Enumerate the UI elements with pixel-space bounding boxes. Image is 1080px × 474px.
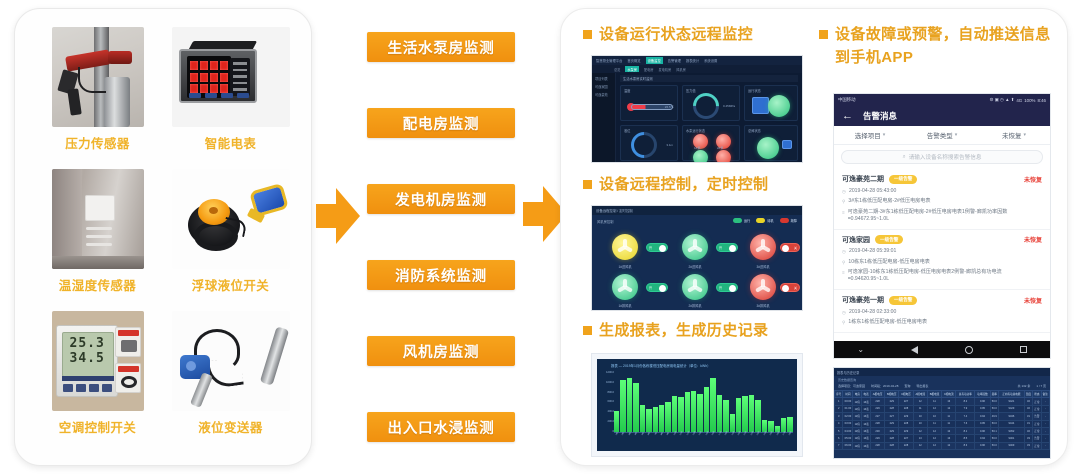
sub-tab-4[interactable]: 风机房 <box>676 67 686 72</box>
y-tick-label: 1200.0 <box>599 371 614 374</box>
chart-bar <box>697 394 702 433</box>
pump-label-2: 2#泵 <box>717 146 723 150</box>
smart-power-meter-photo <box>172 27 290 127</box>
table-row[interactable]: 100:001#房1#表2282292271211138.20.9650.094… <box>835 398 1050 405</box>
alarm-device: 3#东1栋低压配电房-2#低压电房电表 <box>848 198 930 205</box>
table-cell: 33 <box>1024 435 1032 442</box>
pressure-sensor-photo <box>52 27 144 127</box>
bullet-icon <box>583 326 592 335</box>
table-column-header: 功率因数 <box>975 391 990 398</box>
table-cell: 2 <box>835 405 843 412</box>
alarm-detail: 可逸豪苑二期-3#东1栋低压配电房-2#低压电房电表1例警-廊凯功率因数=0.9… <box>848 209 1042 223</box>
phone-status-bar: 中国移动 ⚙ ▣ ◷ ▲ ⬆ 4G 100% 8:46 <box>834 94 1050 106</box>
dashboard-subbar: 总览 水泵房 配电房 发电机房 风机房 <box>592 65 802 73</box>
toggle-label: 开 <box>719 246 722 250</box>
device-icon: ⚲ <box>842 259 845 266</box>
table-cell: - <box>1041 413 1049 420</box>
sub-tab-3[interactable]: 发电机房 <box>659 67 672 72</box>
table-cell: 228 <box>899 420 913 427</box>
top-tab-1[interactable]: 设备监控 <box>646 57 663 64</box>
legend-item-run: 运行 <box>733 218 750 223</box>
bullet-icon <box>583 180 592 189</box>
chart-y-axis: 1200.01000.0800.0600.0400.0200.00 <box>599 371 614 433</box>
table-cell: 0.96 <box>975 442 990 449</box>
chart-bar <box>620 380 625 433</box>
recents-square-icon[interactable] <box>1020 346 1027 353</box>
fan-label-6: 3#排风机 <box>746 303 780 308</box>
table-cell: 12 <box>927 435 941 442</box>
table-cell: 9436 <box>998 413 1024 420</box>
alarm-state: 未恢复 <box>1024 175 1042 184</box>
fan-toggle-3[interactable]: 关 <box>780 243 800 252</box>
table-cell: 32 <box>1024 398 1032 405</box>
history-report-table[interactable]: 报表与历史记录 历史数据查询 选择项目：可逸家园 时间段：2019-04-28 … <box>833 367 1051 459</box>
table-cell: 228 <box>870 420 884 427</box>
table-cell: 9469 <box>998 442 1024 449</box>
table-cell: 0.94 <box>975 435 990 442</box>
bullet-icon <box>819 30 828 39</box>
table-cell: 1#房 <box>853 398 862 405</box>
table-cell: 229 <box>885 398 899 405</box>
table-row[interactable]: 201:001#房1#表2292282281112127.90.9550.094… <box>835 405 1050 412</box>
tool-project-filter[interactable]: 选择项目：可逸家园 <box>838 384 865 388</box>
scenario-pill-fan-room[interactable]: 风机房监测 <box>367 336 515 366</box>
table-cell: 12 <box>913 398 927 405</box>
table-cell: 5 <box>835 427 843 434</box>
fan-toggle-2[interactable]: 开 <box>716 243 738 252</box>
chevron-down-icon: ▾ <box>955 132 958 138</box>
chevron-down-icon: ▾ <box>883 132 886 138</box>
table-cell: 7.4 <box>956 413 975 420</box>
table-cell: 9444 <box>998 420 1024 427</box>
dashboard-project-tree[interactable]: 项目列表 可逸家园 可逸豪苑 <box>592 73 616 162</box>
status-time: 8:46 <box>1037 98 1046 103</box>
toggle-label: 开 <box>649 246 652 250</box>
metric-card-main-valve: 总阀状态 <box>744 125 798 161</box>
list-item[interactable]: 可逸豪苑二期 一级告警 未恢复 ◷ 2019-04-28 05:43:00 ⚲ … <box>834 169 1050 230</box>
table-cell: 11 <box>942 420 956 427</box>
table-title-bar: 报表与历史记录 <box>834 368 1050 376</box>
sub-tab-0[interactable]: 总览 <box>614 67 620 72</box>
remote-control-dashboard[interactable]: 设备远程控制 / 定时控制 风机房控制 运行 待机 故障 <box>591 205 803 311</box>
table-header-row: 序号时间电房电表A相电压B相电压C相电压A相电流B相电流C相电流总有功功率功率因… <box>835 391 1050 398</box>
y-tick-label: 200.0 <box>599 420 614 423</box>
table-cell: 02:00 <box>843 413 853 420</box>
dashboard-section-title: 生活水泵房实时监测 <box>620 75 798 82</box>
device-icon: ⚲ <box>842 198 845 205</box>
device-cell-pressure-sensor: 压力传感器 <box>31 27 164 167</box>
float-level-switch-photo <box>172 169 290 269</box>
table-cell: 1#表 <box>862 420 871 427</box>
table-cell: 1#表 <box>862 442 871 449</box>
table-cell: 7.9 <box>956 405 975 412</box>
fan-label-2: 2#送风机 <box>678 264 712 269</box>
fan-toggle-4[interactable]: 开 <box>646 283 668 292</box>
legend-label: 待机 <box>767 218 773 223</box>
fan-toggle-1[interactable]: 开 <box>646 243 668 252</box>
table-cell: 4 <box>835 420 843 427</box>
note-icon: ≡ <box>842 209 845 216</box>
device-label: 压力传感器 <box>65 133 130 152</box>
filter-label: 选择项目 <box>855 130 881 140</box>
filter-select-alarm-type[interactable]: 告警类型 ▾ <box>906 130 978 140</box>
table-cell: - <box>1041 427 1049 434</box>
chart-bar <box>691 391 696 433</box>
table-column-header: 备注 <box>1041 391 1049 398</box>
chart-bar <box>736 398 741 433</box>
table-cell: 229 <box>885 427 899 434</box>
filter-select-project[interactable]: 选择项目 ▾ <box>834 130 906 140</box>
table-cell: 00:00 <box>843 398 853 405</box>
home-circle-icon[interactable] <box>965 346 973 354</box>
table-cell: 01:00 <box>843 405 853 412</box>
y-tick-label: 400.0 <box>599 410 614 413</box>
equipment-status-dashboard[interactable]: 智慧物业管理平台 首页概览 设备监控 告警管理 报表统计 系统设置 总览 水泵房… <box>591 55 803 163</box>
table-cell: 12 <box>942 427 956 434</box>
chart-bars <box>614 372 793 433</box>
alarm-detail: 可逸家园-10栋东1栋低压配电房-低压电房电表2例警-廊凯总有功电流=0.946… <box>848 269 1042 283</box>
table-cell: 0.95 <box>975 420 990 427</box>
metric-value: 3.1m <box>666 143 673 147</box>
y-tick-label: 1000.0 <box>599 381 614 384</box>
legend-label: 运行 <box>744 218 750 223</box>
table-cell: 50.0 <box>990 405 998 412</box>
table-cell: - <box>1041 420 1049 427</box>
status-icons: ⚙ ▣ ◷ ▲ ⬆ 4G 100% 8:46 <box>990 97 1046 103</box>
alarm-time: 2019-04-28 05:43:00 <box>849 188 896 195</box>
scenario-pill-water-pump-room[interactable]: 生活水泵房监测 <box>367 32 515 62</box>
level-transmitter-photo <box>172 311 290 411</box>
table-cell: 12 <box>913 442 927 449</box>
y-tick-label: 600.0 <box>599 400 614 403</box>
y-tick-label: 0 <box>599 430 614 433</box>
control-legend: 运行 待机 故障 <box>733 218 797 223</box>
table-cell: 229 <box>899 413 913 420</box>
table-cell: 229 <box>885 420 899 427</box>
scenario-pill-fire-system[interactable]: 消防系统监测 <box>367 260 515 290</box>
table-column-header: 序号 <box>835 391 843 398</box>
table-cell: 1#房 <box>853 405 862 412</box>
table-cell: 33 <box>1024 442 1032 449</box>
table-cell: - <box>1041 398 1049 405</box>
table-cell: 1#表 <box>862 413 871 420</box>
top-tab-3[interactable]: 报表统计 <box>686 58 699 63</box>
table-cell: 32 <box>1024 405 1032 412</box>
table-cell: 1#房 <box>853 442 862 449</box>
alarm-device: 10栋东1栋低压配电房-低压电房电表 <box>848 259 930 266</box>
chart-canvas: 报表 — 2019年1月份各栋楼低压配电房用电量统计（单位：kWh） 1200.… <box>597 359 797 451</box>
table-cell: 正常 <box>1033 398 1041 405</box>
back-triangle-icon[interactable] <box>911 346 918 354</box>
top-tab-2[interactable]: 告警管理 <box>668 58 681 63</box>
chart-plot-area <box>614 372 793 433</box>
alarm-project: 可逸豪苑一期 <box>842 295 884 305</box>
table-cell: 12 <box>927 442 941 449</box>
top-tab-4[interactable]: 系统设置 <box>704 58 717 63</box>
fan-label-3: 3#送风机 <box>746 264 780 269</box>
fan-icon-3[interactable] <box>750 234 776 260</box>
chart-bar <box>633 383 638 433</box>
table-row[interactable]: 302:001#房1#表2272272291010117.40.9449.994… <box>835 413 1050 420</box>
control-title-bar: 设备远程控制 / 定时控制 <box>592 206 802 215</box>
table-cell: 1#表 <box>862 405 871 412</box>
table-cell: 228 <box>885 435 899 442</box>
legend-item-fault: 故障 <box>780 218 797 223</box>
table-cell: 10 <box>913 420 927 427</box>
chart-bar <box>717 395 722 433</box>
table-cell: 12 <box>942 405 956 412</box>
arrow-right-icon <box>316 188 360 244</box>
table-column-header: B相电流 <box>927 391 941 398</box>
filter-select-state[interactable]: 未恢复 ▾ <box>978 130 1050 140</box>
table-cell: 7.6 <box>956 420 975 427</box>
table-cell: 228 <box>885 442 899 449</box>
table-cell: 04:00 <box>843 427 853 434</box>
table-cell: - <box>1041 405 1049 412</box>
device-cell-ac-control-switch: 25.3 34.5 空调控制开关 <box>31 311 164 451</box>
table-cell: 10 <box>913 413 927 420</box>
status-badge: 一级告警 <box>875 235 903 244</box>
phone-nav-title: 告警消息 <box>863 110 897 122</box>
scenario-pill-distribution-room[interactable]: 配电房监测 <box>367 108 515 138</box>
status-badge: 一级告警 <box>889 175 917 184</box>
table-column-header: 频率 <box>990 391 998 398</box>
clock-icon: ◷ <box>842 309 846 316</box>
mobile-alarm-app[interactable]: 中国移动 ⚙ ▣ ◷ ▲ ⬆ 4G 100% 8:46 ← 告警消息 选择项目 … <box>833 93 1051 359</box>
table-column-header: B相电压 <box>885 391 899 398</box>
table-cell: 8.2 <box>956 398 975 405</box>
y-tick-label: 800.0 <box>599 391 614 394</box>
metric-caption: 总阀状态 <box>748 128 761 133</box>
table-cell: 31 <box>1024 420 1032 427</box>
chart-bar <box>749 395 754 433</box>
metric-caption: 压力值 <box>686 88 696 93</box>
legend-item-standby: 待机 <box>756 218 773 223</box>
table-row[interactable]: 605:001#房1#表2292282271312138.50.9450.094… <box>835 435 1050 442</box>
scenario-pill-generator-room[interactable]: 发电机房监测 <box>367 184 515 214</box>
table-cell: 11 <box>942 413 956 420</box>
table-cell: 227 <box>885 413 899 420</box>
fan-icon-5[interactable] <box>682 274 708 300</box>
fan-toggle-5[interactable]: 开 <box>716 283 738 292</box>
toggle-label: 关 <box>794 246 797 250</box>
search-icon: ⌕ <box>903 154 906 161</box>
control-subtitle: 风机房控制 <box>597 219 613 224</box>
temperature-humidity-sensor-photo <box>52 169 144 269</box>
table-cell: 9421 <box>998 398 1024 405</box>
table-cell: 8.5 <box>956 435 975 442</box>
table-column-header: 温度 <box>1024 391 1032 398</box>
status-lamp-green <box>768 95 790 117</box>
feature-header-text: 生成报表，生成历史记录 <box>599 319 768 342</box>
lcd-line-2: 34.5 <box>70 351 113 366</box>
report-table: 序号时间电房电表A相电压B相电压C相电压A相电流B相电流C相电流总有功功率功率因… <box>834 390 1050 450</box>
table-cell: 6 <box>835 435 843 442</box>
dashboard-brand: 智慧物业管理平台 <box>596 58 622 63</box>
table-cell: 03:00 <box>843 420 853 427</box>
metric-caption: 温度 <box>624 88 630 93</box>
table-cell: 12 <box>942 442 956 449</box>
table-row[interactable]: 403:001#房1#表2282292281011117.60.9550.094… <box>835 420 1050 427</box>
energy-report-chart[interactable]: 报表 — 2019年1月份各栋楼低压配电房用电量统计（单位：kWh） 1200.… <box>591 353 803 457</box>
device-grid: 压力传感器 智能电表 <box>31 27 297 451</box>
table-column-header: A相电流 <box>913 391 927 398</box>
device-cell-float-level-switch: 浮球液位开关 <box>164 169 297 309</box>
table-cell: 告警 <box>1033 413 1041 420</box>
chart-bar <box>678 397 683 433</box>
fan-toggle-6[interactable]: 关 <box>780 283 800 292</box>
table-cell: 13 <box>942 435 956 442</box>
table-cell: 227 <box>899 398 913 405</box>
feature-header-text: 设备故障或预警，自动推送信息到手机APP <box>835 23 1057 69</box>
table-column-header: C相电压 <box>899 391 913 398</box>
status-battery: 100% <box>1024 98 1035 103</box>
alarm-state: 未恢复 <box>1024 296 1042 305</box>
tree-item-2[interactable]: 可逸豪苑 <box>595 92 615 97</box>
filter-label: 未恢复 <box>1002 130 1022 140</box>
table-cell: 1#表 <box>862 427 871 434</box>
export-button[interactable]: 导出报表 <box>916 384 928 388</box>
table-cell: 49.9 <box>990 413 998 420</box>
table-cell: 1#表 <box>862 398 871 405</box>
toggle-label: 关 <box>794 286 797 290</box>
dashboard-topbar: 智慧物业管理平台 首页概览 设备监控 告警管理 报表统计 系统设置 <box>592 56 802 65</box>
table-cell: 0.94 <box>975 413 990 420</box>
platform-feature-panel: 设备运行状态远程监控 设备故障或预警，自动推送信息到手机APP 设备远程控制，定… <box>560 8 1068 466</box>
back-arrow-icon[interactable]: ← <box>842 110 853 122</box>
legend-label: 故障 <box>791 218 797 223</box>
table-cell: 1#房 <box>853 435 862 442</box>
table-cell: 228 <box>885 405 899 412</box>
table-cell: 228 <box>870 442 884 449</box>
sub-tab-2[interactable]: 配电房 <box>644 67 654 72</box>
table-cell: 1#表 <box>862 435 871 442</box>
table-cell: 正常 <box>1033 427 1041 434</box>
alarm-time: 2019-04-28 02:33:00 <box>849 309 896 316</box>
metric-value: 0.45MPa <box>723 104 735 108</box>
table-cell: 229 <box>870 435 884 442</box>
sub-tab-1[interactable]: 水泵房 <box>625 66 639 72</box>
feature-header-text: 设备远程控制，定时控制 <box>599 173 768 196</box>
device-cell-smart-meter: 智能电表 <box>164 27 297 167</box>
list-item[interactable]: 可逸家园 一级告警 未恢复 ◷ 2019-04-28 05:39:01 ⚲ 10… <box>834 230 1050 291</box>
pump-lamp-4 <box>716 150 731 163</box>
phone-nav-bar: ← 告警消息 <box>834 106 1050 126</box>
table-cell: 11 <box>927 420 941 427</box>
chevron-down-icon: ▾ <box>1023 132 1026 138</box>
fan-icon-2[interactable] <box>682 234 708 260</box>
android-system-nav[interactable]: ⌄ <box>834 341 1050 358</box>
alarm-state: 未恢复 <box>1024 235 1042 244</box>
table-cell: 1 <box>835 398 843 405</box>
status-glyphs: ⚙ ▣ ◷ ▲ ⬆ <box>990 97 1015 103</box>
clock-icon: ◷ <box>842 248 846 255</box>
table-cell: 1#房 <box>853 413 862 420</box>
table-cell: 0.96 <box>975 427 990 434</box>
table-column-header: 正向有功总电能 <box>998 391 1024 398</box>
table-cell: 50.1 <box>990 427 998 434</box>
fan-icon-1[interactable] <box>612 234 638 260</box>
table-column-header: A相电压 <box>870 391 884 398</box>
table-cell: 06:00 <box>843 442 853 449</box>
filter-label: 告警类型 <box>927 130 953 140</box>
feature-header-reports: 生成报表，生成历史记录 <box>583 319 768 342</box>
table-cell: 12 <box>927 405 941 412</box>
chart-bar <box>627 378 632 433</box>
fan-label-5: 2#排风机 <box>678 303 712 308</box>
table-cell: 228 <box>899 442 913 449</box>
metric-card-temperature: 温度 26.5℃ <box>620 85 678 121</box>
infographic-root: 压力传感器 智能电表 <box>0 0 1080 474</box>
metric-card-run-state: 运行状态 <box>744 85 798 121</box>
table-cell: 8.3 <box>956 442 975 449</box>
breadcrumb: 历史数据查询 <box>834 376 1050 383</box>
device-label: 空调控制开关 <box>59 417 136 436</box>
tool-date-filter[interactable]: 时间段：2019-04-28 <box>871 384 898 388</box>
toggle-label: 开 <box>649 286 652 290</box>
chart-title: 报表 — 2019年1月份各栋楼低压配电房用电量统计（单位：kWh） <box>611 363 793 368</box>
chart-bar <box>685 392 690 433</box>
search-input[interactable]: ⌕ 请输入设备名称搜索告警信息 <box>841 150 1043 164</box>
table-cell: 正常 <box>1033 420 1041 427</box>
table-cell: 228 <box>870 398 884 405</box>
device-label: 液位变送器 <box>198 417 263 436</box>
table-cell: 11 <box>913 405 927 412</box>
status-lamp-green <box>757 137 779 159</box>
metric-card-pump-lamps: 水泵运行状态 1#泵 2#泵 <box>682 125 740 161</box>
status-carrier: 中国移动 <box>838 97 856 103</box>
chart-bar <box>755 400 760 433</box>
metric-card-level: 液位 3.1m <box>620 125 678 161</box>
chevron-down-icon[interactable]: ⌄ <box>857 346 864 354</box>
chart-bar <box>704 387 709 433</box>
chart-bar <box>710 378 715 433</box>
table-cell: 1#房 <box>853 427 862 434</box>
table-cell: 50.0 <box>990 420 998 427</box>
metric-value: 26.5℃ <box>665 105 674 109</box>
page-indicator: 1 / 7 页 <box>1036 384 1046 388</box>
tree-item-0[interactable]: 项目列表 <box>595 76 615 81</box>
table-column-header: C相电流 <box>942 391 956 398</box>
table-cell: 13 <box>942 398 956 405</box>
feature-header-remote-control: 设备远程控制，定时控制 <box>583 173 768 196</box>
metric-caption: 运行状态 <box>748 88 761 93</box>
table-row[interactable]: 504:001#房1#表2302292291212128.10.9650.194… <box>835 427 1050 434</box>
table-cell: 227 <box>899 435 913 442</box>
scenario-pill-entrance-flood[interactable]: 出入口水浸监测 <box>367 412 515 442</box>
table-cell: 229 <box>899 427 913 434</box>
fan-icon-4[interactable] <box>612 274 638 300</box>
feature-header-text: 设备运行状态远程监控 <box>599 23 753 46</box>
table-cell: 32 <box>1024 427 1032 434</box>
table-body: 100:001#房1#表2282292271211138.20.9650.094… <box>835 398 1050 450</box>
table-cell: - <box>1041 435 1049 442</box>
sensor-device-panel: 压力传感器 智能电表 <box>14 8 312 466</box>
table-cell: 8.1 <box>956 427 975 434</box>
metric-caption: 水泵运行状态 <box>686 128 705 133</box>
fan-label-1: 1#送风机 <box>608 264 642 269</box>
table-cell: 告警 <box>1033 435 1041 442</box>
bullet-icon <box>583 30 592 39</box>
fan-icon-6[interactable] <box>750 274 776 300</box>
list-item[interactable]: 可逸豪苑一期 一级告警 未恢复 ◷ 2019-04-28 02:33:00 ⚲ … <box>834 290 1050 333</box>
tree-item-1[interactable]: 可逸家园 <box>595 84 615 89</box>
alarm-device: 1栋东1栋低压配电房-低压电房电表 <box>848 319 927 326</box>
table-cell: 9452 <box>998 427 1024 434</box>
top-tab-0[interactable]: 首页概览 <box>627 58 640 63</box>
table-row[interactable]: 706:001#房1#表2282282281212128.30.9650.094… <box>835 442 1050 449</box>
query-button[interactable]: 查询 <box>904 384 910 388</box>
